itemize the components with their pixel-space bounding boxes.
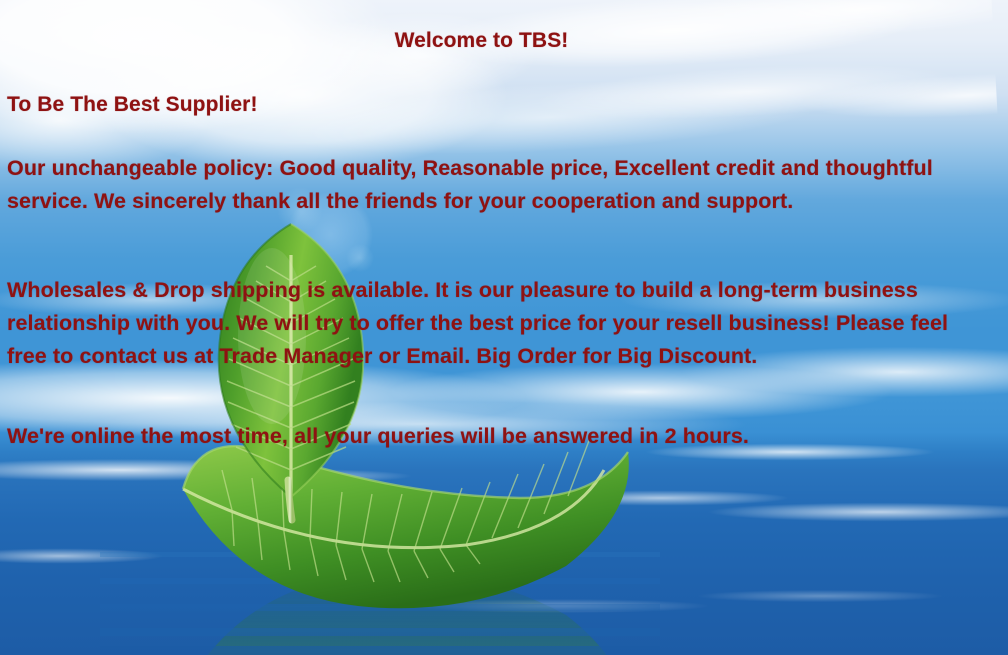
tbs-welcome-banner: Welcome to TBS! To Be The Best Supplier!… [0, 0, 1008, 655]
tagline: To Be The Best Supplier! [7, 92, 258, 118]
paragraph-policy: Our unchangeable policy: Good quality, R… [7, 152, 961, 218]
banner-text-layer: Welcome to TBS! To Be The Best Supplier!… [0, 0, 1008, 655]
page-title: Welcome to TBS! [0, 28, 963, 54]
paragraph-online-hours: We're online the most time, all your que… [7, 420, 961, 453]
paragraph-wholesale: Wholesales & Drop shipping is available.… [7, 274, 961, 373]
